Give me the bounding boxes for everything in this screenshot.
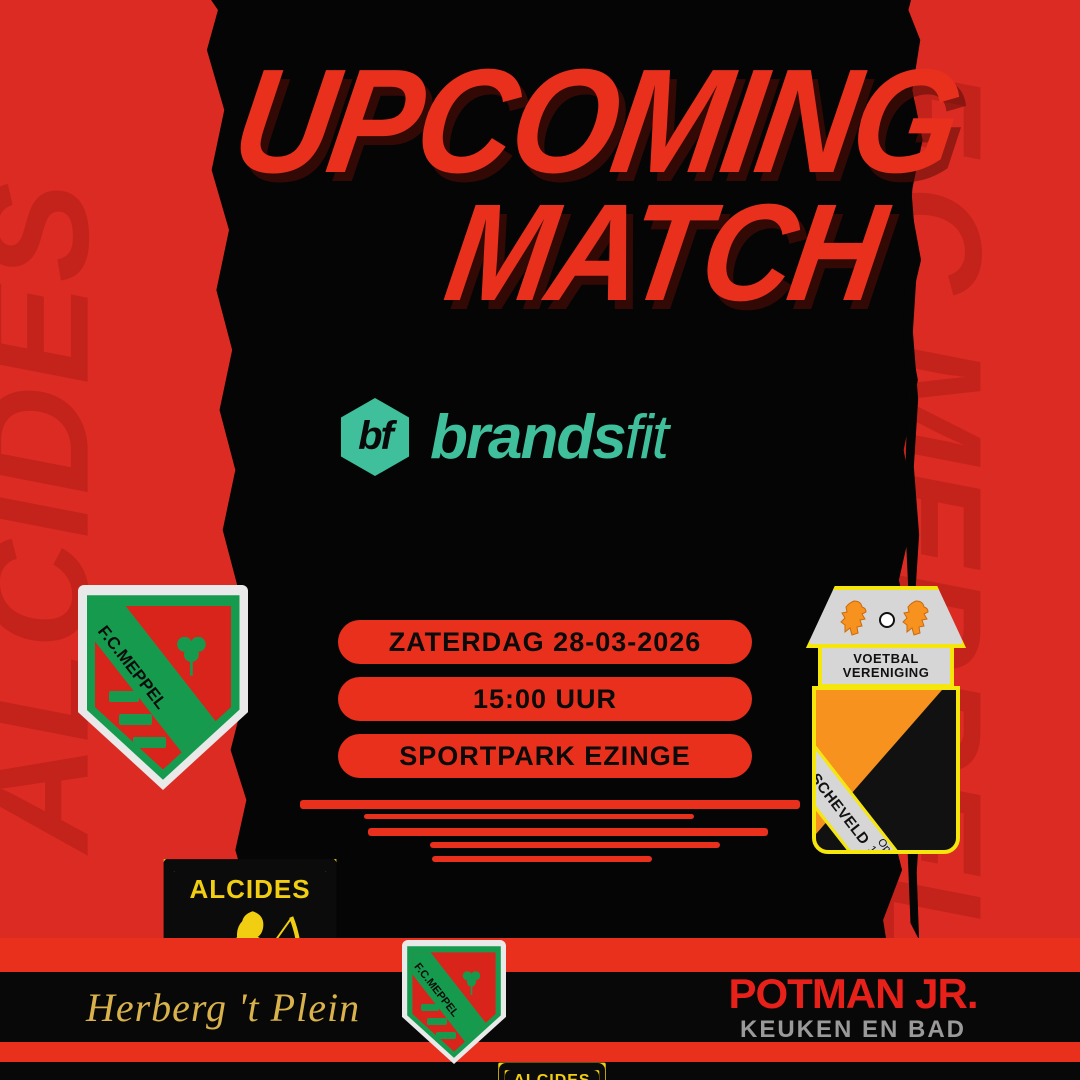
hsv-sash-main: HOLLANDSCHEVELD	[812, 709, 873, 848]
alcides-name-label: ALCIDES	[160, 874, 340, 905]
red-scratch-strokes	[300, 786, 820, 866]
hsv-lion-right-icon	[902, 598, 932, 636]
scratch-line	[300, 800, 800, 809]
fcm-dash	[133, 737, 166, 748]
hsv-club-type-panel: VOETBAL VERENIGING	[818, 644, 954, 688]
footer-sponsor-herberg: Herberg 't Plein	[58, 975, 388, 1039]
footer-club-crests: F.C.MEPPEL ALCIDES	[396, 936, 616, 1066]
hsv-body-panel: HOLLANDSCHEVELD Opgericht. 18 april 1950	[812, 686, 960, 854]
match-time-pill: 15:00 UUR	[338, 677, 752, 721]
brandsfit-wordmark: brandsfit	[430, 402, 667, 473]
match-info-list: ZATERDAG 28-03-2026 15:00 UUR SPORTPARK …	[338, 620, 752, 778]
hsv-line2: VERENIGING	[843, 666, 930, 680]
fcm-dash	[119, 714, 152, 725]
fcm-dash	[436, 1032, 456, 1039]
match-date-pill: ZATERDAG 28-03-2026	[338, 620, 752, 664]
fcm-dash	[109, 691, 139, 702]
match-announcement-poster: ALCIDES F.C.MEPPEL UPCOMING MATCH bf bra…	[0, 0, 1080, 1080]
scratch-line	[432, 856, 652, 862]
potman-tagline: KEUKEN EN BAD	[740, 1018, 966, 1042]
alcides-name-label: ALCIDES	[496, 1072, 608, 1080]
hsv-football-icon	[879, 612, 895, 628]
hsv-line1: VOETBAL	[853, 652, 919, 666]
fcm-clover-icon	[459, 966, 484, 1000]
footer-crest-fc-meppel: F.C.MEPPEL	[402, 940, 506, 1064]
scratch-line	[368, 828, 768, 836]
main-sponsor-brandsfit: bf brandsfit	[338, 398, 667, 476]
brandsfit-hexagon-icon: bf	[338, 398, 412, 476]
brandsfit-monogram: bf	[358, 414, 392, 459]
brandsfit-word-bold: brands	[430, 403, 625, 472]
brandsfit-word-light: fit	[625, 403, 667, 472]
fcm-dash	[427, 1018, 447, 1025]
footer-sponsor-potman: POTMAN JR. KEUKEN EN BAD	[688, 972, 1018, 1042]
fcm-clover-icon	[171, 628, 212, 684]
crest-hollandscheveld: VOETBAL VERENIGING HOLLANDSCHEVELD Opger…	[806, 586, 966, 858]
match-venue-pill: SPORTPARK EZINGE	[338, 734, 752, 778]
scratch-line	[430, 842, 720, 848]
fcm-dash	[421, 1004, 439, 1011]
footer-crest-alcides: ALCIDES MEPPEL 1907	[496, 1060, 608, 1080]
hsv-lion-left-icon	[840, 598, 870, 636]
scratch-line	[364, 814, 694, 819]
potman-name: POTMAN JR.	[728, 973, 977, 1015]
crest-fc-meppel: F.C.MEPPEL	[78, 585, 248, 790]
